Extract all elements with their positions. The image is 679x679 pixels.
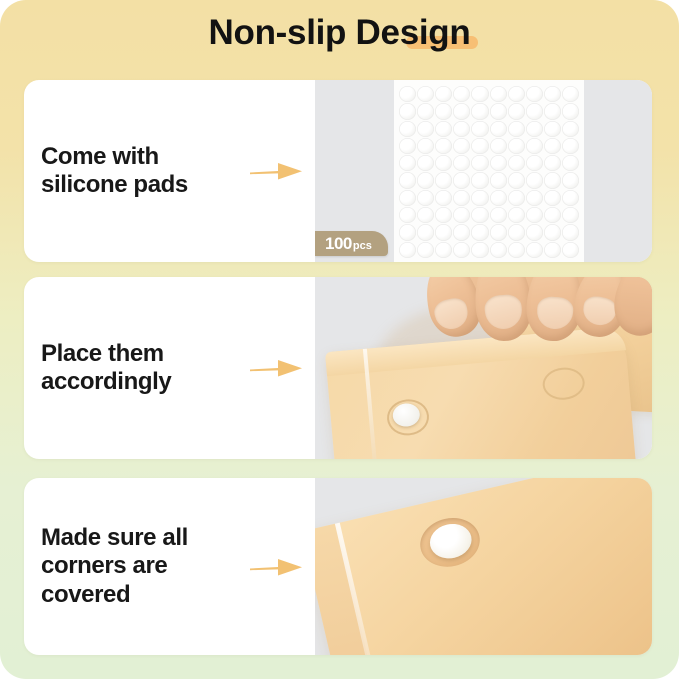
silicone-pad — [490, 207, 507, 223]
silicone-pad — [471, 190, 488, 206]
silicone-pad — [399, 155, 416, 171]
silicone-pad — [417, 121, 434, 137]
silicone-pad — [526, 103, 543, 119]
silicone-pad — [399, 86, 416, 102]
silicone-pad — [399, 224, 416, 240]
silicone-pad — [544, 138, 561, 154]
card-1-photo: 100 pcs — [315, 80, 652, 262]
silicone-pad — [562, 207, 579, 223]
silicone-pad — [417, 224, 434, 240]
silicone-pad — [526, 155, 543, 171]
page-title: Non-slip Design — [209, 15, 471, 50]
silicone-pad — [435, 224, 452, 240]
silicone-pad — [417, 207, 434, 223]
silicone-pad — [544, 86, 561, 102]
silicone-pad — [453, 190, 470, 206]
silicone-pad — [399, 103, 416, 119]
silicone-pad — [490, 138, 507, 154]
silicone-pad — [508, 242, 525, 258]
silicone-pad — [399, 242, 416, 258]
silicone-pad — [526, 138, 543, 154]
silicone-pad — [471, 242, 488, 258]
silicone-pad — [508, 172, 525, 188]
silicone-pad — [526, 224, 543, 240]
silicone-pad — [508, 155, 525, 171]
silicone-pad — [508, 86, 525, 102]
silicone-pad — [471, 103, 488, 119]
infographic-page: Non-slip Design Come with silicone pads … — [0, 0, 679, 679]
storage-box-corner — [315, 478, 652, 655]
silicone-pad — [562, 190, 579, 206]
silicone-pad — [526, 190, 543, 206]
card-3-photo — [315, 478, 652, 655]
silicone-pad — [417, 138, 434, 154]
silicone-pad — [526, 172, 543, 188]
silicone-pad — [562, 86, 579, 102]
silicone-pad — [562, 103, 579, 119]
title-text: Non-slip Design — [209, 13, 471, 52]
silicone-pad — [508, 207, 525, 223]
silicone-pad — [471, 121, 488, 137]
arrow-right-icon — [248, 552, 304, 582]
card-2-caption: Place them accordingly — [41, 340, 171, 397]
silicone-pad — [544, 155, 561, 171]
feature-card-1: Come with silicone pads 100 pcs — [24, 80, 652, 262]
silicone-pad — [417, 242, 434, 258]
silicone-pad — [562, 121, 579, 137]
silicone-pad — [399, 138, 416, 154]
silicone-pad — [471, 207, 488, 223]
silicone-pad — [490, 224, 507, 240]
silicone-pad — [399, 121, 416, 137]
silicone-pad — [508, 224, 525, 240]
silicone-pad — [435, 242, 452, 258]
arrow-right-icon — [248, 156, 304, 186]
silicone-pad — [526, 86, 543, 102]
silicone-pad — [526, 121, 543, 137]
card-2-text-pane: Place them accordingly — [24, 277, 315, 459]
silicone-pad — [435, 103, 452, 119]
card-3-caption: Made sure all corners are covered — [41, 524, 188, 609]
silicone-pad — [544, 172, 561, 188]
feature-card-2: Place them accordingly — [24, 277, 652, 459]
silicone-pad — [544, 190, 561, 206]
silicone-pad — [435, 172, 452, 188]
silicone-pad — [471, 86, 488, 102]
silicone-pad — [435, 207, 452, 223]
silicone-pad — [490, 121, 507, 137]
silicone-pad — [526, 242, 543, 258]
silicone-pad — [453, 138, 470, 154]
silicone-pad — [508, 190, 525, 206]
quantity-badge: 100 pcs — [315, 231, 388, 256]
silicone-pad — [399, 207, 416, 223]
card-3-caption-line-1: Made sure all — [41, 524, 188, 552]
silicone-pad — [490, 172, 507, 188]
card-3-caption-line-2: corners are — [41, 552, 188, 580]
silicone-pad — [435, 86, 452, 102]
arrow-right-icon — [248, 353, 304, 383]
card-2-caption-line-1: Place them — [41, 340, 171, 368]
silicone-pad — [399, 190, 416, 206]
silicone-pad — [490, 103, 507, 119]
silicone-pad — [544, 242, 561, 258]
card-2-photo — [315, 277, 652, 459]
silicone-pad — [453, 207, 470, 223]
silicone-pad — [417, 155, 434, 171]
silicone-pad — [508, 121, 525, 137]
silicone-pad — [471, 155, 488, 171]
silicone-pad — [544, 103, 561, 119]
silicone-pad — [471, 138, 488, 154]
silicone-pad-sheet — [394, 80, 584, 262]
silicone-pad — [526, 207, 543, 223]
silicone-pad — [562, 224, 579, 240]
silicone-pad — [562, 138, 579, 154]
title-bar: Non-slip Design — [0, 6, 679, 58]
silicone-pad — [453, 86, 470, 102]
silicone-pad — [453, 155, 470, 171]
silicone-pad — [417, 86, 434, 102]
silicone-pad — [490, 86, 507, 102]
silicone-pad — [508, 138, 525, 154]
silicone-pad — [562, 155, 579, 171]
silicone-pad — [490, 242, 507, 258]
silicone-pad — [490, 155, 507, 171]
silicone-pad — [399, 172, 416, 188]
silicone-pad — [490, 190, 507, 206]
card-3-caption-line-3: covered — [41, 581, 188, 609]
silicone-pad — [544, 207, 561, 223]
silicone-pad — [471, 172, 488, 188]
silicone-pad — [453, 224, 470, 240]
silicone-pad — [544, 224, 561, 240]
silicone-pad — [435, 190, 452, 206]
silicone-pad — [453, 172, 470, 188]
silicone-pad — [453, 121, 470, 137]
silicone-pad — [435, 138, 452, 154]
silicone-pad — [417, 103, 434, 119]
silicone-pad — [453, 103, 470, 119]
silicone-pad — [435, 121, 452, 137]
silicone-pad — [544, 121, 561, 137]
badge-count: 100 — [325, 231, 352, 256]
card-1-caption-line-1: Come with — [41, 143, 188, 171]
card-1-caption-line-2: silicone pads — [41, 171, 188, 199]
silicone-pad — [417, 190, 434, 206]
card-1-caption: Come with silicone pads — [41, 143, 188, 200]
silicone-pad-grid — [399, 86, 579, 258]
silicone-pad — [562, 242, 579, 258]
card-3-text-pane: Made sure all corners are covered — [24, 478, 315, 655]
silicone-pad — [508, 103, 525, 119]
feature-card-3: Made sure all corners are covered — [24, 478, 652, 655]
silicone-pad — [435, 155, 452, 171]
silicone-pad — [471, 224, 488, 240]
hand-photo — [423, 277, 652, 396]
silicone-pad — [417, 172, 434, 188]
badge-unit: pcs — [353, 234, 372, 259]
silicone-pad — [562, 172, 579, 188]
card-1-text-pane: Come with silicone pads — [24, 80, 315, 262]
silicone-pad — [453, 242, 470, 258]
card-2-caption-line-2: accordingly — [41, 368, 171, 396]
